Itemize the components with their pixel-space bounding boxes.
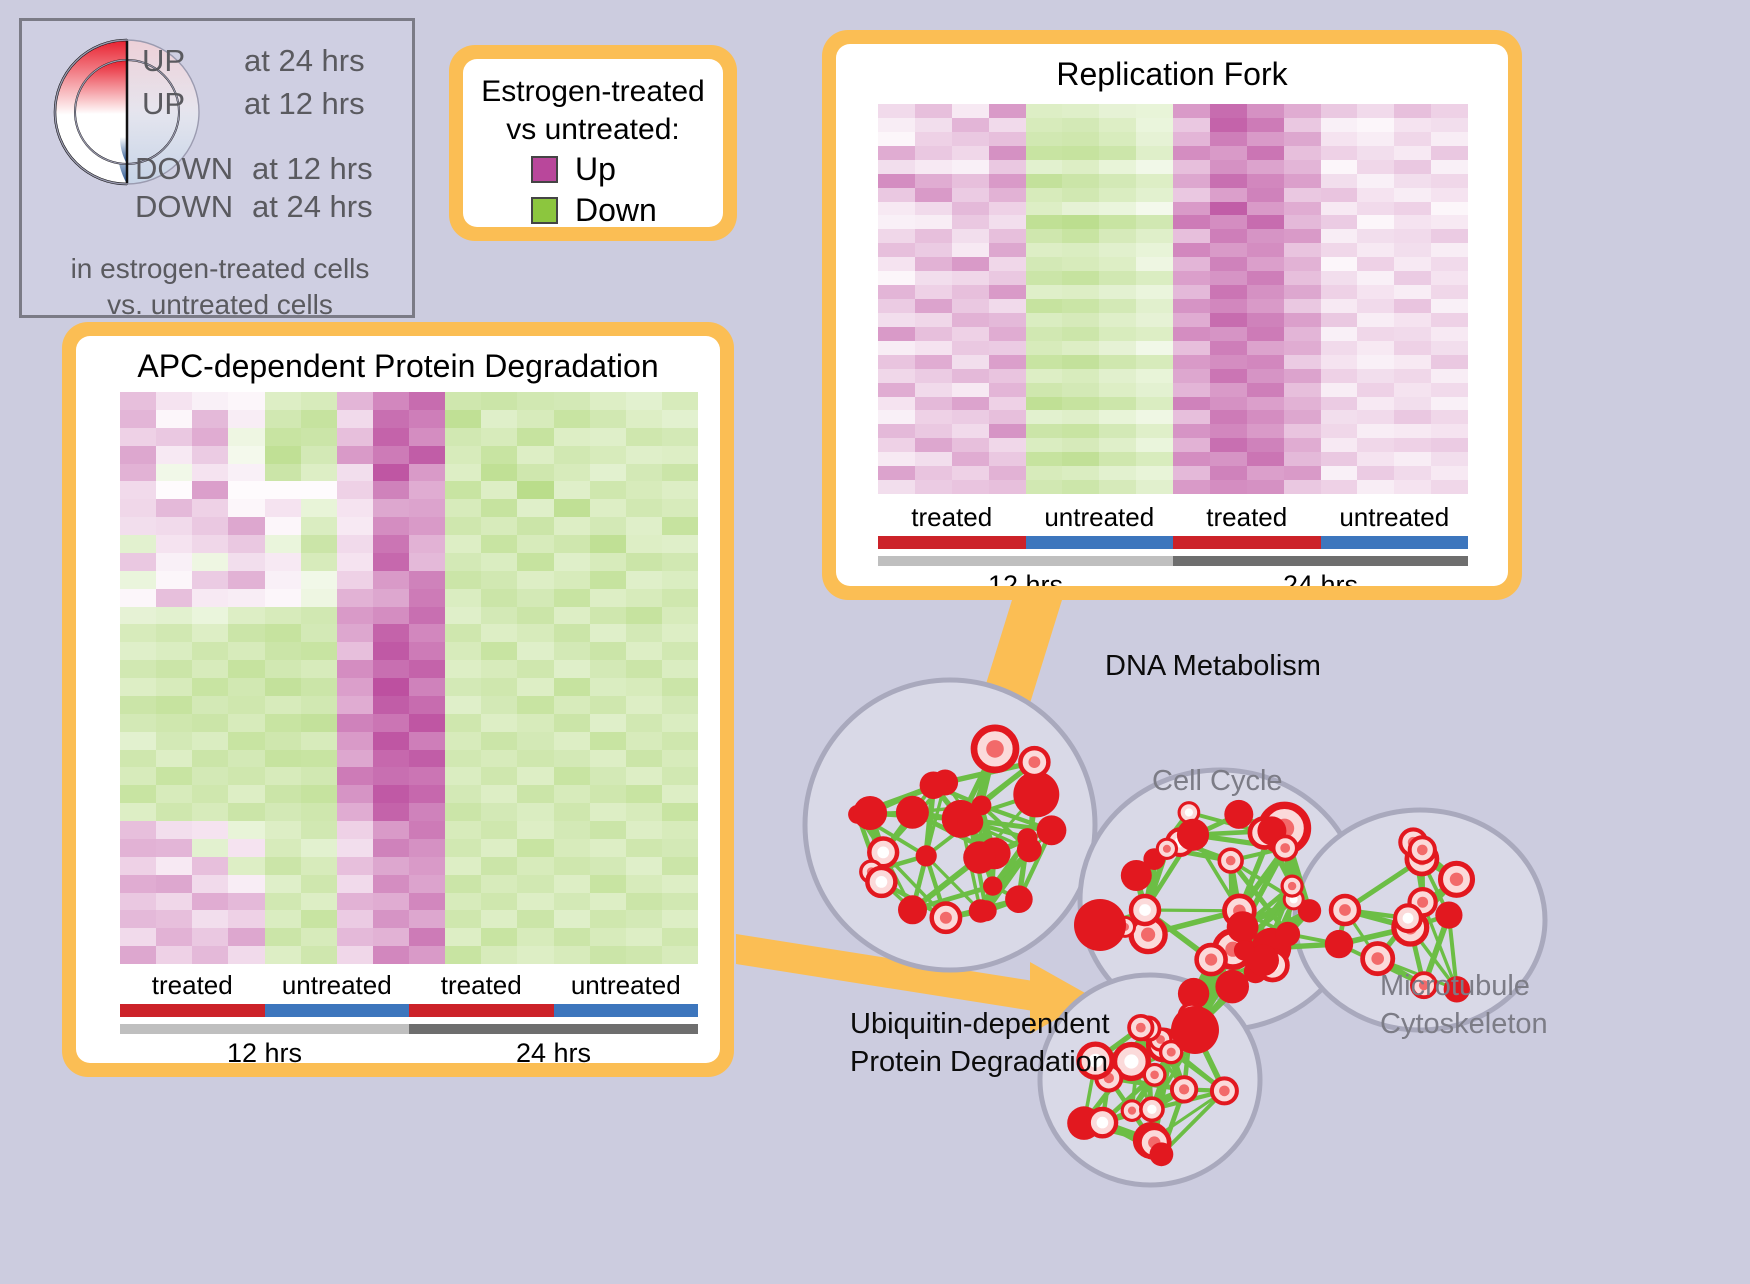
network-node[interactable] <box>1276 922 1301 947</box>
network-node[interactable] <box>1219 849 1242 872</box>
network-node[interactable] <box>1013 771 1059 817</box>
cluster-label-ubiquitin-line1: Ubiquitin-dependent <box>850 1008 1110 1041</box>
network-node[interactable] <box>1395 905 1421 931</box>
network-node[interactable] <box>853 796 887 830</box>
network-node[interactable] <box>1074 899 1126 951</box>
network-node[interactable] <box>1005 885 1033 913</box>
network-node[interactable] <box>1227 911 1259 943</box>
network-node[interactable] <box>1144 1065 1165 1086</box>
network-node[interactable] <box>1410 837 1435 862</box>
network-node[interactable] <box>1172 1077 1196 1101</box>
network-node[interactable] <box>1122 1101 1142 1121</box>
network-node[interactable] <box>969 899 993 923</box>
network-node[interactable] <box>1017 837 1042 862</box>
network-node[interactable] <box>1325 930 1353 958</box>
cluster-label-ubiquitin-line2: Protein Degradation <box>850 1046 1108 1079</box>
network-node[interactable] <box>920 772 948 800</box>
network-node[interactable] <box>1157 839 1176 858</box>
network-node[interactable] <box>898 895 927 924</box>
network-node[interactable] <box>1171 1006 1219 1054</box>
network-node[interactable] <box>1141 1098 1163 1120</box>
network-node[interactable] <box>1037 815 1067 845</box>
cluster-label-microtubule: Microtubule <box>1380 970 1530 1003</box>
network-node[interactable] <box>1089 1109 1116 1136</box>
network-node[interactable] <box>1197 945 1226 974</box>
network-node[interactable] <box>867 868 895 896</box>
network-node[interactable] <box>1020 748 1048 776</box>
cluster-label-cytoskeleton: Cytoskeleton <box>1380 1008 1548 1041</box>
network-node[interactable] <box>1212 1078 1237 1103</box>
network-node[interactable] <box>957 809 983 835</box>
network-node[interactable] <box>1441 863 1473 895</box>
network-node[interactable] <box>1274 836 1297 859</box>
network-node[interactable] <box>1435 902 1462 929</box>
network-node[interactable] <box>963 841 995 873</box>
network-node[interactable] <box>896 796 929 829</box>
network-node[interactable] <box>974 728 1016 770</box>
network-node[interactable] <box>1234 940 1254 960</box>
network-node[interactable] <box>1177 819 1209 851</box>
network-node[interactable] <box>916 845 937 866</box>
network-diagram: DNA Metabolism Cell Cycle Microtubule Cy… <box>800 610 1750 1279</box>
network-node[interactable] <box>932 904 960 932</box>
network-svg <box>800 610 1750 1279</box>
cluster-label-cell-cycle: Cell Cycle <box>1152 765 1283 798</box>
network-node[interactable] <box>1215 970 1249 1004</box>
network-node[interactable] <box>1224 800 1253 829</box>
network-node[interactable] <box>983 876 1002 895</box>
network-node[interactable] <box>1131 896 1159 924</box>
network-node[interactable] <box>1282 876 1302 896</box>
network-node[interactable] <box>1150 1142 1174 1166</box>
network-node[interactable] <box>1129 1016 1152 1039</box>
cluster-label-dna-metabolism: DNA Metabolism <box>1105 650 1321 683</box>
network-node[interactable] <box>1331 896 1359 924</box>
